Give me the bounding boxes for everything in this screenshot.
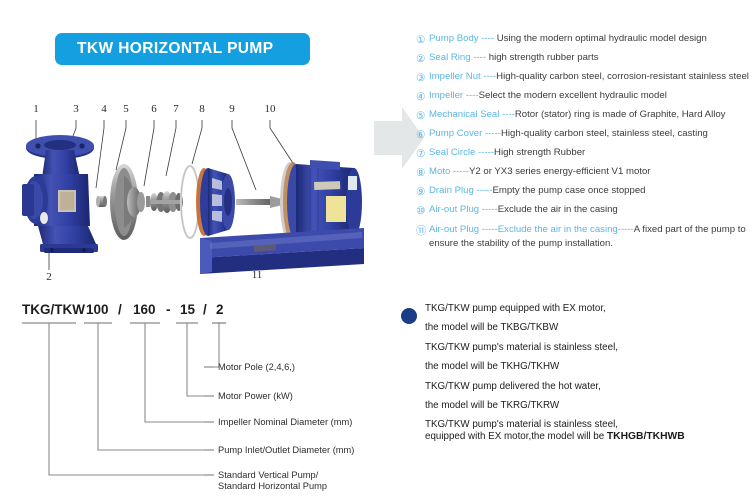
feature-item-2: ② Seal Ring ---- high strength rubber pa…: [416, 52, 754, 66]
callout-9: 9: [229, 103, 235, 115]
feature-number-1: ①: [416, 33, 429, 47]
feature-name-8: Moto: [429, 166, 450, 177]
feature-item-3: ③ Impeller Nut ----High-quality carbon s…: [416, 71, 754, 85]
impeller-nut-part: [96, 196, 107, 207]
page-title-banner: TKW HORIZONTAL PUMP: [55, 33, 310, 65]
feature-list: ① Pump Body ---- Using the modern optima…: [416, 33, 754, 256]
feature-item-8: ⑧ Moto -----Y2 or YX3 series energy-effi…: [416, 166, 754, 180]
feature-number-4: ④: [416, 90, 429, 104]
impeller-part: [110, 164, 145, 240]
model-power: 15: [180, 302, 196, 317]
feature-desc-7: High strength Rubber: [494, 147, 585, 158]
feature-name-1: Pump Body: [429, 33, 479, 44]
feature-item-11: ⑪ Air-out Plug -----Exclude the air in t…: [416, 223, 754, 251]
model-label-impeller: Impeller Nominal Diameter (mm): [218, 417, 352, 427]
feature-name-7: Seal Circle: [429, 147, 475, 158]
feature-number-10: ⑩: [416, 204, 429, 218]
variant-line-7: TKG/TKW pump's material is stainless ste…: [425, 419, 751, 430]
mechanical-seal-part: [146, 191, 183, 213]
model-impeller: 160: [133, 302, 156, 317]
feature-item-6: ⑥ Pump Cover -----High-quality carbon st…: [416, 128, 754, 142]
variant-line-8-model: TKHGB/TKHWB: [607, 431, 685, 442]
model-inlet: 100: [86, 302, 109, 317]
model-label-pole: Motor Pole (2,4,6,): [218, 362, 295, 372]
feature-desc-3: High-quality carbon steel, corrosion-res…: [496, 71, 749, 82]
callout-6: 6: [151, 103, 157, 115]
model-label-inlet: Pump Inlet/Outlet Diameter (mm): [218, 445, 354, 455]
feature-item-10: ⑩ Air-out Plug -----Exclude the air in t…: [416, 204, 754, 218]
model-sep-3: /: [203, 302, 207, 317]
feature-name-2: Seal Ring: [429, 52, 471, 63]
feature-number-6: ⑥: [416, 128, 429, 142]
variant-line-4: the model will be TKHG/TKHW: [425, 361, 751, 372]
feature-number-5: ⑤: [416, 109, 429, 123]
feature-name-6: Pump Cover: [429, 128, 482, 139]
feature-item-4: ④ Impeller ----Select the modern excelle…: [416, 90, 754, 104]
feature-desc-4: Select the modern excellent hydraulic mo…: [479, 90, 667, 101]
feature-name-11: Air-out Plug -----Exclude the air in the…: [429, 224, 618, 235]
feature-number-8: ⑧: [416, 166, 429, 180]
model-sep-1: /: [118, 302, 122, 317]
feature-number-11: ⑪: [416, 223, 429, 239]
model-prefix: TKG/TKW: [22, 302, 85, 317]
model-label-power: Motor Power (kW): [218, 391, 293, 401]
callout-11: 11: [252, 269, 263, 281]
pump-body-part: [22, 135, 98, 253]
callout-4: 4: [101, 103, 107, 115]
bullet-dot-icon: [401, 308, 417, 324]
variant-line-8: equipped with EX motor,the model will be…: [425, 431, 751, 442]
feature-desc-6: High-quality carbon steel, stainless ste…: [501, 128, 708, 139]
variants-block: TKG/TKW pump equipped with EX motor, the…: [401, 303, 751, 451]
feature-name-10: Air-out Plug: [429, 204, 479, 215]
feature-item-9: ⑨ Drain Plug -----Empty the pump case on…: [416, 185, 754, 199]
feature-desc-1: Using the modern optimal hydraulic model…: [497, 33, 707, 44]
feature-desc-2: high strength rubber parts: [489, 52, 599, 63]
feature-name-3: Impeller Nut: [429, 71, 481, 82]
callout-1: 1: [33, 103, 39, 115]
base-plate-part: [200, 228, 364, 274]
callout-3: 3: [73, 103, 79, 115]
feature-number-2: ②: [416, 52, 429, 66]
callout-2: 2: [46, 271, 52, 283]
feature-desc-9: Empty the pump case once stopped: [492, 185, 645, 196]
model-label-standard-2: Standard Horizontal Pump: [218, 481, 327, 491]
feature-number-3: ③: [416, 71, 429, 85]
feature-name-9: Drain Plug: [429, 185, 474, 196]
model-sep-2: -: [166, 302, 171, 317]
feature-number-9: ⑨: [416, 185, 429, 199]
callout-8: 8: [199, 103, 205, 115]
variant-line-3: TKG/TKW pump's material is stainless ste…: [425, 342, 751, 353]
feature-desc-10: Exclude the air in the casing: [498, 204, 618, 215]
feature-name-5: Mechanical Seal: [429, 109, 499, 120]
pump-cover-part: [196, 168, 235, 236]
feature-desc-8: Y2 or YX3 series energy-efficient V1 mot…: [469, 166, 651, 177]
feature-desc-5: Rotor (stator) ring is made of Graphite,…: [515, 109, 726, 120]
model-pole: 2: [216, 302, 224, 317]
exploded-pump-diagram: 1 3 4 5 6 7 8 9 10 2 11: [14, 98, 374, 283]
variant-line-2: the model will be TKBG/TKBW: [425, 322, 751, 333]
variant-line-8-prefix: equipped with EX motor,the model will be: [425, 431, 607, 442]
model-code-diagram: TKG/TKW 100 / 160 - 15 / 2: [14, 297, 384, 493]
variant-line-1: TKG/TKW pump equipped with EX motor,: [425, 303, 751, 314]
feature-item-5: ⑤ Mechanical Seal ----Rotor (stator) rin…: [416, 109, 754, 123]
page-title: TKW HORIZONTAL PUMP: [77, 40, 273, 58]
feature-number-7: ⑦: [416, 147, 429, 161]
feature-item-7: ⑦ Seal Circle -----High strength Rubber: [416, 147, 754, 161]
feature-item-1: ① Pump Body ---- Using the modern optima…: [416, 33, 754, 47]
model-label-standard-1: Standard Vertical Pump/: [218, 470, 319, 480]
feature-name-4: Impeller: [429, 90, 463, 101]
callout-10: 10: [265, 103, 277, 115]
variant-line-6: the model will be TKRG/TKRW: [425, 400, 751, 411]
variant-line-5: TKG/TKW pump delivered the hot water,: [425, 381, 751, 392]
callout-7: 7: [173, 103, 179, 115]
callout-5: 5: [123, 103, 129, 115]
